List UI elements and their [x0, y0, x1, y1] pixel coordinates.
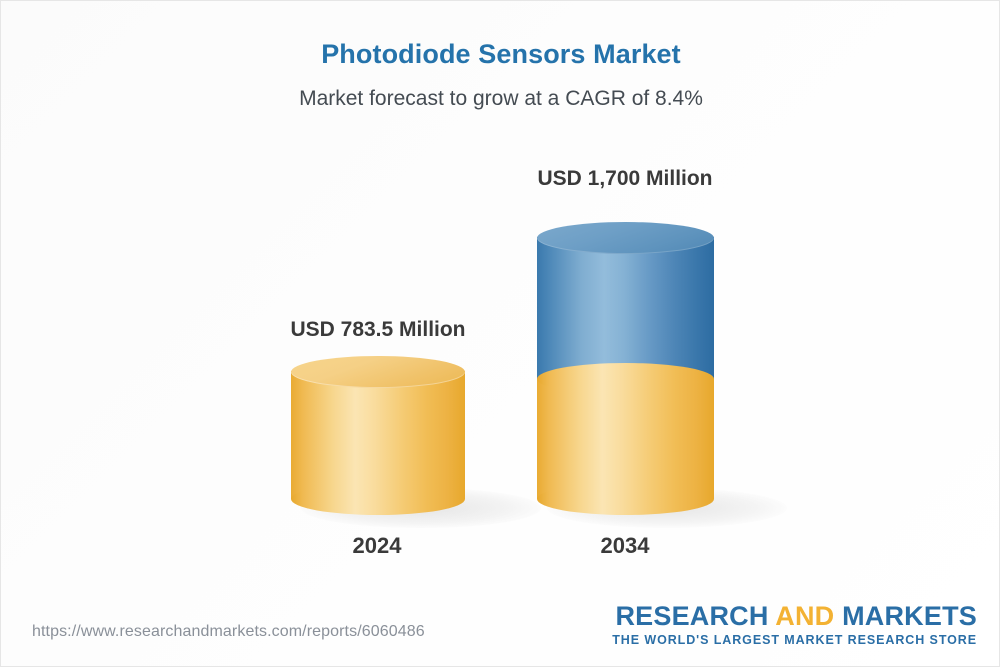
brand-logo[interactable]: RESEARCH AND MARKETS THE WORLD'S LARGEST… [612, 602, 977, 647]
chart-subtitle: Market forecast to grow at a CAGR of 8.4… [1, 87, 1000, 111]
bar-2024-bottom-cap [291, 483, 465, 515]
brand-tagline: THE WORLD'S LARGEST MARKET RESEARCH STOR… [612, 633, 977, 647]
brand-wordmark: RESEARCH AND MARKETS [612, 602, 977, 630]
bar-2024-top-cap [291, 356, 465, 388]
page-title: Photodiode Sensors Market [1, 39, 1000, 70]
brand-markets-text: MARKETS [842, 601, 977, 631]
bar-2034-segment-blue [537, 237, 714, 379]
infographic-canvas: Photodiode Sensors Market Market forecas… [0, 0, 1000, 667]
bar-2034-segment-divider [537, 363, 714, 395]
value-label-2024: USD 783.5 Million [188, 318, 568, 342]
category-label-2024: 2024 [257, 533, 497, 559]
bar-2034-top-cap [537, 222, 714, 254]
category-label-2034: 2034 [505, 533, 745, 559]
brand-and-text: AND [775, 601, 834, 631]
source-url[interactable]: https://www.researchandmarkets.com/repor… [32, 623, 425, 641]
value-label-2034: USD 1,700 Million [435, 167, 815, 191]
bar-2034-segment-yellow [537, 379, 714, 499]
bar-2024-segment-yellow [291, 371, 465, 499]
brand-research-text: RESEARCH [615, 601, 768, 631]
bar-2034-bottom-cap [537, 483, 714, 515]
bar-2024-body [291, 371, 465, 499]
